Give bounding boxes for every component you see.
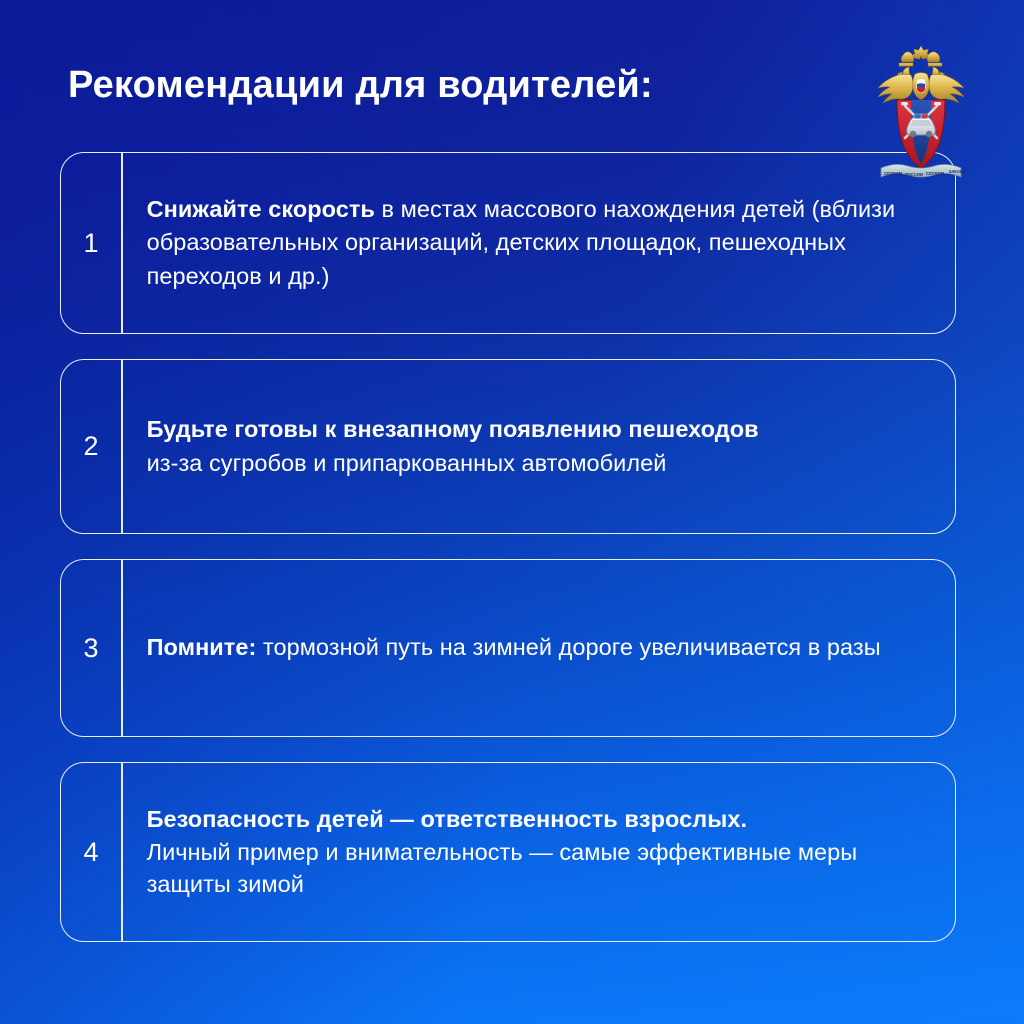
recommendation-card-3[interactable]: 3 Помните: тормозной путь на зимней доро…	[60, 559, 956, 737]
recommendation-list: 1 Снижайте скорость в местах массового н…	[60, 152, 956, 942]
recommendation-number-4: 4	[61, 763, 121, 941]
recommendation-rest-2: из-за сугробов и припаркованных автомоби…	[147, 450, 667, 476]
recommendation-bold-2: Будьте готовы к внезапному появлению пеш…	[147, 416, 759, 442]
recommendation-bold-3: Помните:	[147, 634, 257, 660]
recommendation-bold-4: Безопасность детей — ответственность взр…	[147, 806, 747, 832]
recommendation-text-2: Будьте готовы к внезапному появлению пеш…	[147, 413, 929, 480]
recommendation-rest-3: тормозной путь на зимней дороге увеличив…	[256, 634, 880, 660]
recommendation-body-2: Будьте готовы к внезапному появлению пеш…	[123, 360, 955, 533]
recommendation-body-1: Снижайте скорость в местах массового нах…	[123, 153, 955, 333]
recommendation-body-3: Помните: тормозной путь на зимней дороге…	[123, 560, 955, 736]
recommendation-number-2: 2	[61, 360, 121, 533]
recommendation-text-3: Помните: тормозной путь на зимней дороге…	[147, 631, 929, 664]
recommendation-text-1: Снижайте скорость в местах массового нах…	[147, 193, 929, 293]
poster-canvas: СЛУЖИМ РОССИИ СЛУЖИМ ЗАКОНУ Рекомендации…	[0, 0, 1024, 1024]
recommendation-body-4: Безопасность детей — ответственность взр…	[123, 763, 955, 941]
recommendation-card-2[interactable]: 2 Будьте готовы к внезапному появлению п…	[60, 359, 956, 534]
recommendation-text-4: Безопасность детей — ответственность взр…	[147, 803, 929, 902]
recommendation-bold-1: Снижайте скорость	[147, 196, 375, 222]
recommendation-card-4[interactable]: 4 Безопасность детей — ответственность в…	[60, 762, 956, 942]
page-title: Рекомендации для водителей:	[68, 64, 848, 107]
recommendation-card-1[interactable]: 1 Снижайте скорость в местах массового н…	[60, 152, 956, 334]
recommendation-rest-4: Личный пример и внимательность — самые э…	[147, 839, 858, 898]
recommendation-number-1: 1	[61, 153, 121, 333]
recommendation-number-3: 3	[61, 560, 121, 736]
